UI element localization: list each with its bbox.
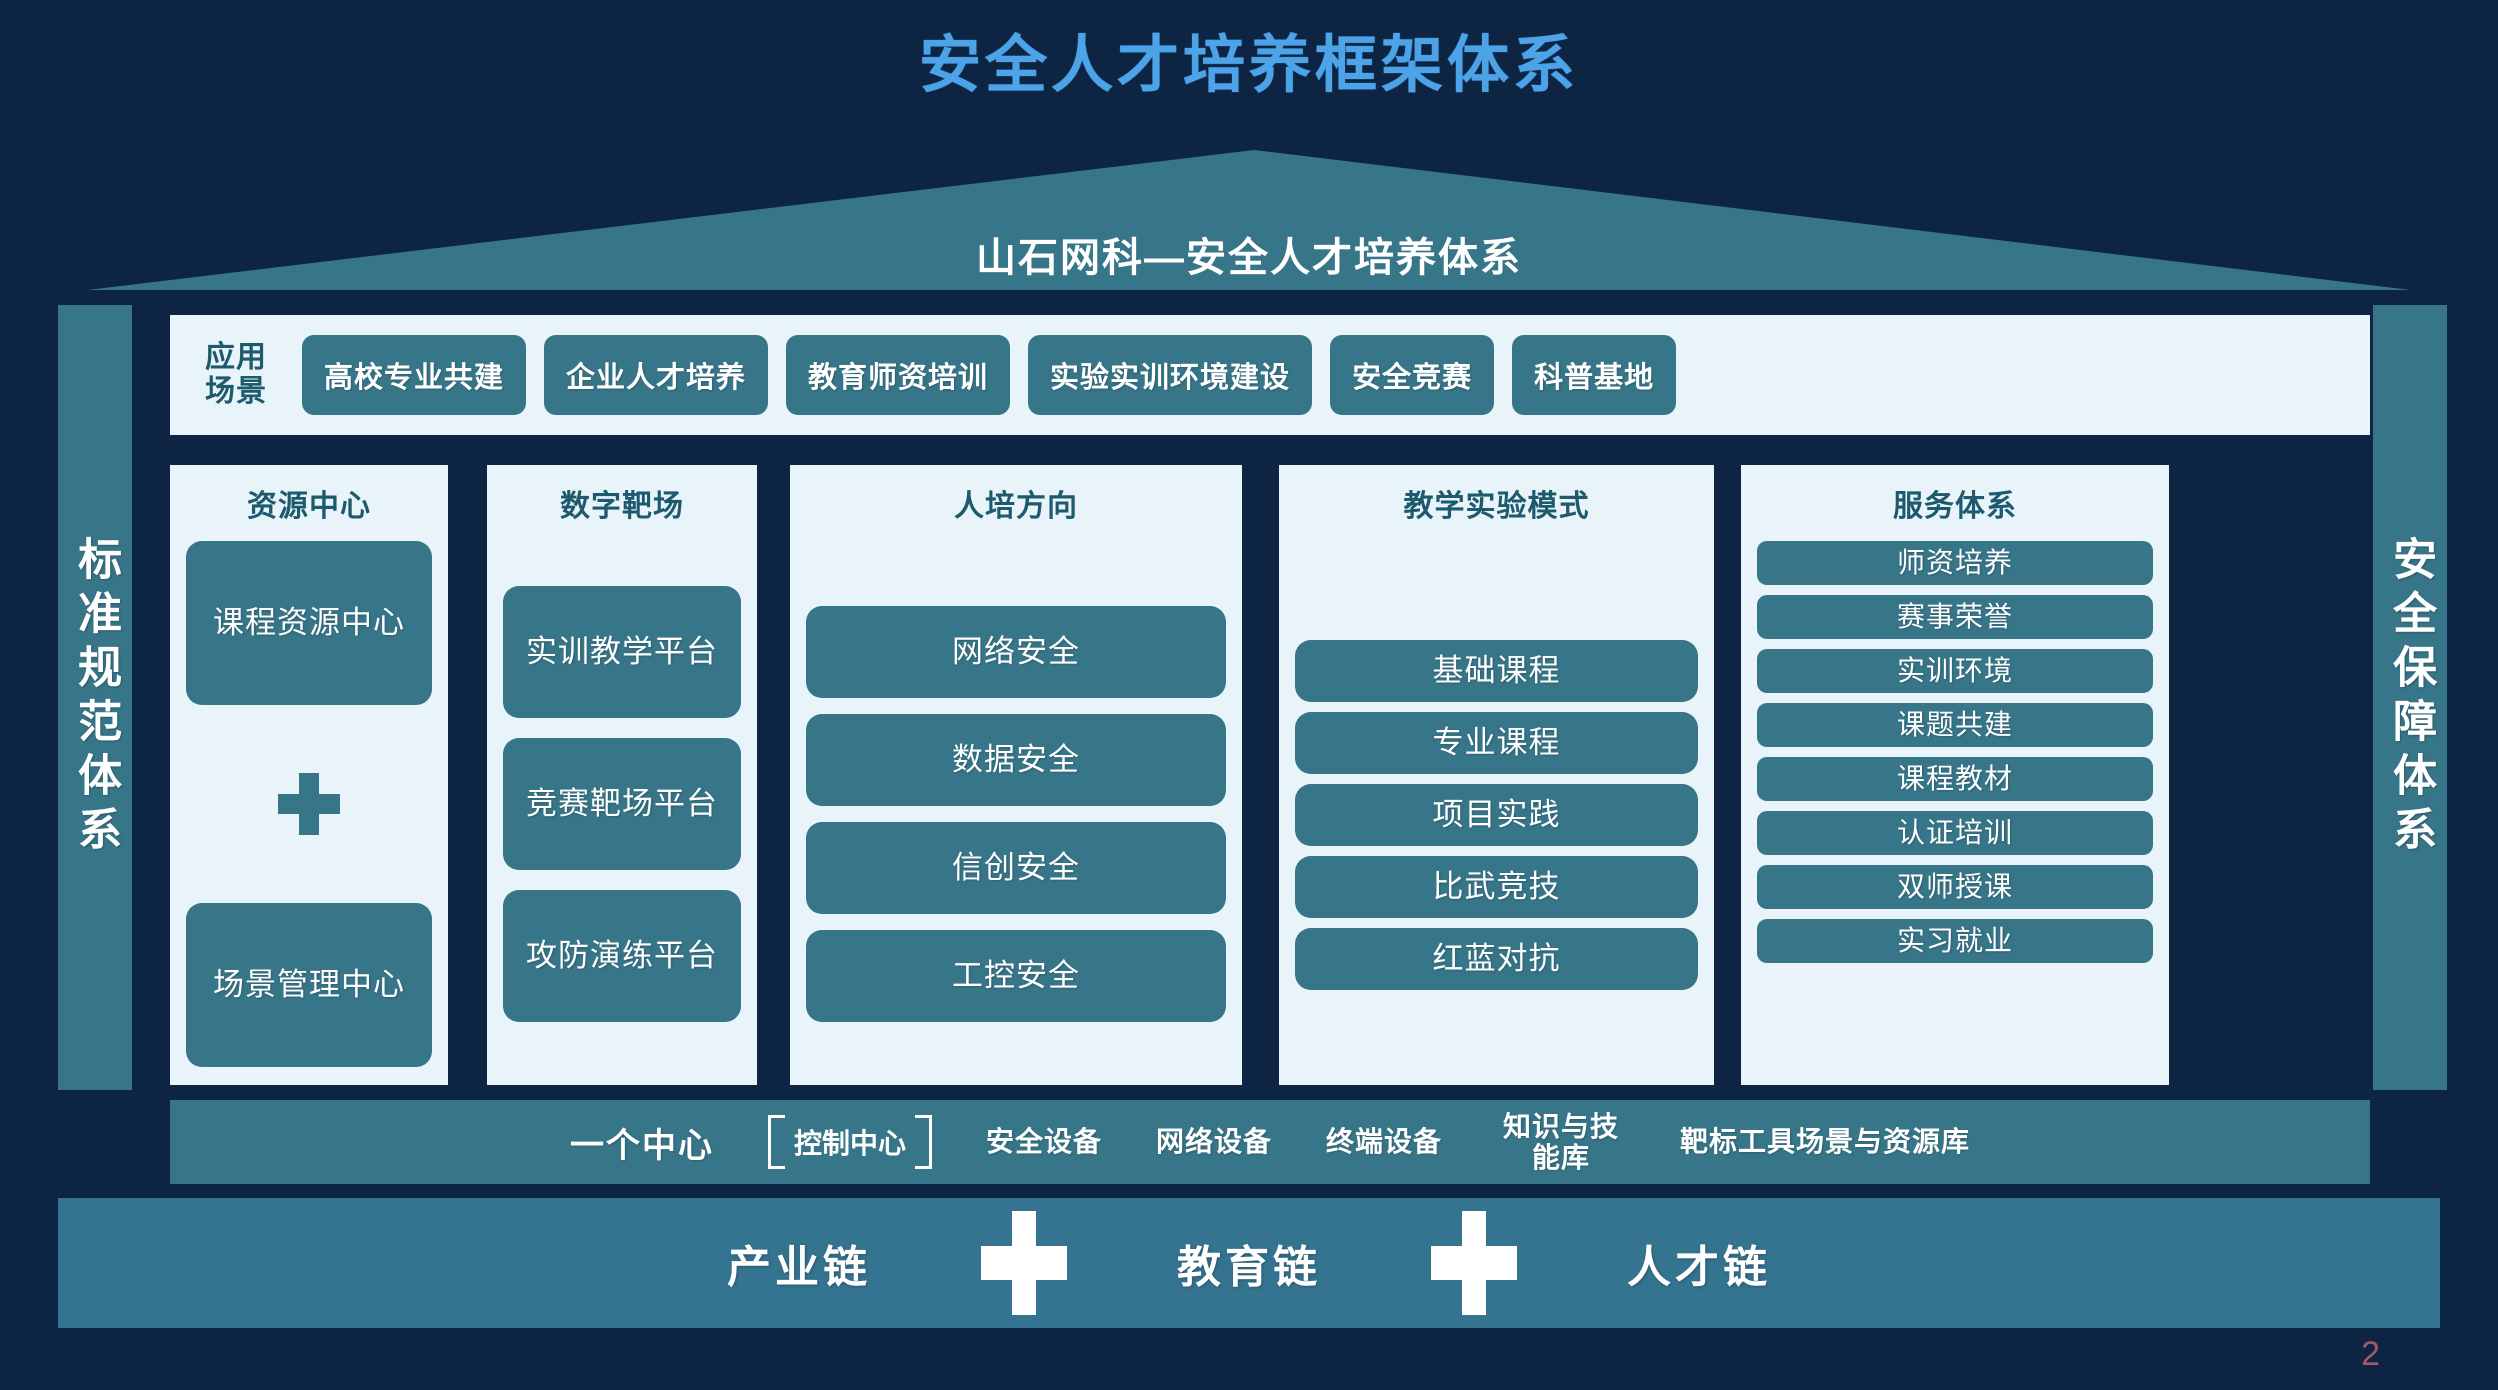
card-attack-defense-drill-platform[interactable]: 攻防演练平台 bbox=[503, 890, 741, 1022]
card-project-practice[interactable]: 项目实践 bbox=[1295, 784, 1698, 846]
card-red-blue-confrontation[interactable]: 红蓝对抗 bbox=[1295, 928, 1698, 990]
page-number: 2 bbox=[2361, 1335, 2380, 1374]
scenario-chip-2[interactable]: 教育师资培训 bbox=[786, 335, 1010, 415]
application-scenario-label-line1: 应用 bbox=[188, 341, 284, 376]
infrastructure-item-security-equipment[interactable]: 安全设备 bbox=[986, 1126, 1102, 1157]
column-title-service-system: 服务体系 bbox=[1893, 481, 2017, 525]
pillar-columns: 资源中心 课程资源中心 场景管理中心 数字靶场 实训教学平台 竞赛靶场平台 攻防… bbox=[170, 465, 2370, 1085]
infrastructure-item-target-tool-scene-resource-library[interactable]: 靶标工具场景与资源库 bbox=[1680, 1126, 1970, 1157]
column-body-talent-direction: 网络安全 数据安全 信创安全 工控安全 bbox=[806, 541, 1226, 1067]
infrastructure-item-network-equipment[interactable]: 网络设备 bbox=[1156, 1126, 1272, 1157]
card-competition-range-platform[interactable]: 竞赛靶场平台 bbox=[503, 738, 741, 870]
card-scene-management-center[interactable]: 场景管理中心 bbox=[186, 903, 432, 1067]
card-competition-honor[interactable]: 赛事荣誉 bbox=[1757, 595, 2153, 639]
scenario-chip-3[interactable]: 实验实训环境建设 bbox=[1028, 335, 1312, 415]
column-digital-range: 数字靶场 实训教学平台 竞赛靶场平台 攻防演练平台 bbox=[487, 465, 757, 1085]
card-skill-competition[interactable]: 比武竞技 bbox=[1295, 856, 1698, 918]
card-data-security[interactable]: 数据安全 bbox=[806, 714, 1226, 806]
application-scenario-row: 应用 场景 高校专业共建 企业人才培养 教育师资培训 实验实训环境建设 安全竞赛… bbox=[170, 315, 2370, 435]
card-basic-course[interactable]: 基础课程 bbox=[1295, 640, 1698, 702]
card-network-security[interactable]: 网络安全 bbox=[806, 606, 1226, 698]
card-dual-teacher-lecture[interactable]: 双师授课 bbox=[1757, 865, 2153, 909]
infrastructure-items: 一个中心 控制中心 安全设备 网络设备 终端设备 知识与技能库 靶标工具场景与资… bbox=[570, 1111, 1970, 1174]
roof-label: 山石网科—安全人才培养体系 bbox=[0, 225, 2498, 283]
pillar-right-label: 安全保障体系 bbox=[2387, 536, 2433, 860]
infrastructure-item-terminal-equipment[interactable]: 终端设备 bbox=[1326, 1126, 1442, 1157]
card-training-environment[interactable]: 实训环境 bbox=[1757, 649, 2153, 693]
column-body-service-system: 师资培养 赛事荣誉 实训环境 课题共建 课程教材 认证培训 双师授课 实习就业 bbox=[1757, 541, 2153, 1067]
infrastructure-item-knowledge-skill-library[interactable]: 知识与技能库 bbox=[1496, 1111, 1626, 1174]
pillar-right-security-guarantee-system: 安全保障体系 bbox=[2373, 305, 2447, 1090]
application-scenario-label-line2: 场景 bbox=[188, 375, 284, 410]
chains-bar: 产业链 教育链 人才链 bbox=[58, 1198, 2440, 1328]
scenario-chip-4[interactable]: 安全竞赛 bbox=[1330, 335, 1494, 415]
column-body-digital-range: 实训教学平台 竞赛靶场平台 攻防演练平台 bbox=[503, 541, 741, 1067]
application-scenario-label: 应用 场景 bbox=[188, 341, 284, 410]
pillar-left-label: 标准规范体系 bbox=[72, 536, 118, 860]
card-teacher-training[interactable]: 师资培养 bbox=[1757, 541, 2153, 585]
card-industrial-control-security[interactable]: 工控安全 bbox=[806, 930, 1226, 1022]
chain-education: 教育链 bbox=[1177, 1231, 1321, 1295]
column-title-teaching-experiment-mode: 教学实验模式 bbox=[1404, 481, 1590, 525]
column-body-teaching-experiment-mode: 基础课程 专业课程 项目实践 比武竞技 红蓝对抗 bbox=[1295, 541, 1698, 1067]
infrastructure-bar: 一个中心 控制中心 安全设备 网络设备 终端设备 知识与技能库 靶标工具场景与资… bbox=[170, 1100, 2370, 1184]
chain-talent: 人才链 bbox=[1627, 1231, 1771, 1295]
plus-icon-chain-2 bbox=[1431, 1211, 1517, 1315]
column-resource-center: 资源中心 课程资源中心 场景管理中心 bbox=[170, 465, 448, 1085]
card-training-teaching-platform[interactable]: 实训教学平台 bbox=[503, 586, 741, 718]
card-course-textbook[interactable]: 课程教材 bbox=[1757, 757, 2153, 801]
card-internship-employment[interactable]: 实习就业 bbox=[1757, 919, 2153, 963]
card-research-topic-cobuild[interactable]: 课题共建 bbox=[1757, 703, 2153, 747]
infrastructure-control-center[interactable]: 控制中心 bbox=[768, 1115, 932, 1169]
scenario-chip-0[interactable]: 高校专业共建 bbox=[302, 335, 526, 415]
infrastructure-lead-label: 一个中心 bbox=[570, 1118, 714, 1167]
column-title-resource-center: 资源中心 bbox=[247, 481, 371, 525]
column-body-resource-center: 课程资源中心 场景管理中心 bbox=[186, 541, 432, 1067]
card-course-resource-center[interactable]: 课程资源中心 bbox=[186, 541, 432, 705]
chain-industry: 产业链 bbox=[727, 1231, 871, 1295]
card-certification-training[interactable]: 认证培训 bbox=[1757, 811, 2153, 855]
plus-icon-chain-1 bbox=[981, 1211, 1067, 1315]
pillar-left-standard-system: 标准规范体系 bbox=[58, 305, 132, 1090]
column-title-talent-direction: 人培方向 bbox=[954, 481, 1078, 525]
plus-icon-resource bbox=[186, 773, 432, 835]
page-title: 安全人才培养框架体系 bbox=[0, 14, 2498, 104]
scenario-chip-1[interactable]: 企业人才培养 bbox=[544, 335, 768, 415]
card-xinchuang-security[interactable]: 信创安全 bbox=[806, 822, 1226, 914]
column-talent-direction: 人培方向 网络安全 数据安全 信创安全 工控安全 bbox=[790, 465, 1242, 1085]
column-teaching-experiment-mode: 教学实验模式 基础课程 专业课程 项目实践 比武竞技 红蓝对抗 bbox=[1279, 465, 1714, 1085]
card-professional-course[interactable]: 专业课程 bbox=[1295, 712, 1698, 774]
scenario-chip-5[interactable]: 科普基地 bbox=[1512, 335, 1676, 415]
column-title-digital-range: 数字靶场 bbox=[560, 481, 684, 525]
column-service-system: 服务体系 师资培养 赛事荣誉 实训环境 课题共建 课程教材 认证培训 双师授课 … bbox=[1741, 465, 2169, 1085]
